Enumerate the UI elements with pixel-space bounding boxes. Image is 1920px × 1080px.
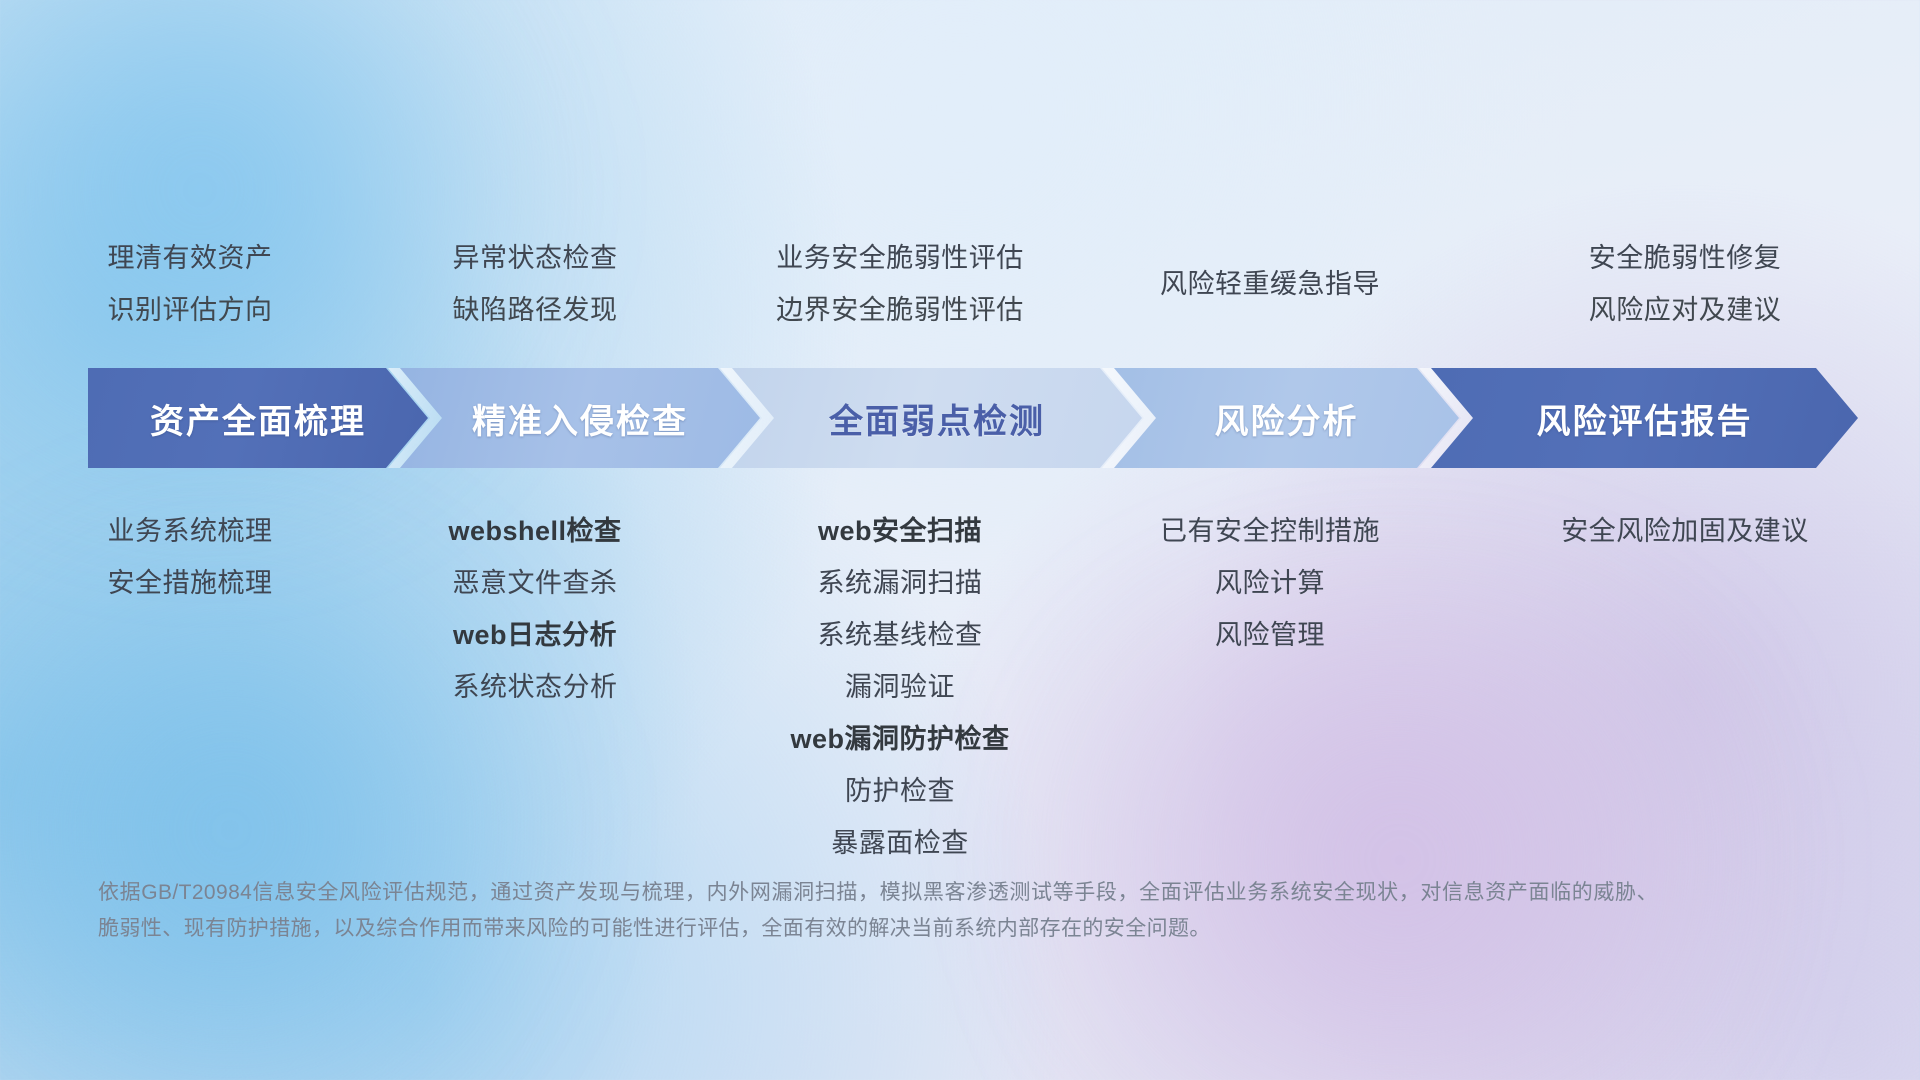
annotation-item: web安全扫描 xyxy=(818,505,982,557)
top-annotations-stage-4: 风险轻重缓急指导 xyxy=(1090,232,1450,342)
annotation-item: 风险应对及建议 xyxy=(1589,284,1782,336)
bottom-annotations-stage-1: 业务系统梳理 安全措施梳理 xyxy=(20,505,360,609)
annotation-item: 安全脆弱性修复 xyxy=(1589,232,1782,284)
annotation-item: 风险计算 xyxy=(1215,557,1325,609)
bottom-annotations-stage-4: 已有安全控制措施 风险计算 风险管理 xyxy=(1090,505,1450,661)
footer-paragraph: 依据GB/T20984信息安全风险评估规范，通过资产发现与梳理，内外网漏洞扫描，… xyxy=(98,875,1658,947)
stage-arrow-risk-report[interactable]: 风险评估报告 xyxy=(1431,368,1858,468)
stage-arrow-band: 资产全面梳理 精准入侵检查 全面弱点检测 风险分析 风险评估报告 xyxy=(88,368,1858,468)
bottom-annotations-stage-3: web安全扫描 系统漏洞扫描 系统基线检查 漏洞验证 web漏洞防护检查 防护检… xyxy=(710,505,1090,869)
stage-arrow-intrusion-check[interactable]: 精准入侵检查 xyxy=(400,368,760,468)
annotation-item: 风险管理 xyxy=(1215,609,1325,661)
annotation-item: 漏洞验证 xyxy=(845,661,955,713)
footer-description: 依据GB/T20984信息安全风险评估规范，通过资产发现与梳理，内外网漏洞扫描，… xyxy=(98,875,1658,947)
stage-arrow-asset-inventory[interactable]: 资产全面梳理 xyxy=(88,368,428,468)
annotation-item: 安全风险加固及建议 xyxy=(1561,505,1809,557)
annotation-item: 业务安全脆弱性评估 xyxy=(776,232,1024,284)
annotation-item: 系统漏洞扫描 xyxy=(818,557,983,609)
top-annotations-stage-1: 理清有效资产 识别评估方向 xyxy=(20,232,360,342)
top-annotations-stage-3: 业务安全脆弱性评估 边界安全脆弱性评估 xyxy=(710,232,1090,342)
annotation-item: 边界安全脆弱性评估 xyxy=(776,284,1024,336)
process-diagram: 理清有效资产 识别评估方向 异常状态检查 缺陷路径发现 业务安全脆弱性评估 边界… xyxy=(0,0,1920,1080)
annotation-item: 恶意文件查杀 xyxy=(453,557,618,609)
stage-arrow-label: 资产全面梳理 xyxy=(150,394,366,443)
bottom-annotations-stage-2: webshell检查 恶意文件查杀 web日志分析 系统状态分析 xyxy=(360,505,710,713)
annotation-item: 暴露面检查 xyxy=(831,817,969,869)
stage-arrow-risk-analysis[interactable]: 风险分析 xyxy=(1114,368,1459,468)
stage-arrow-label: 风险分析 xyxy=(1215,394,1359,443)
stage-arrow-label: 精准入侵检查 xyxy=(472,394,688,443)
stage-arrow-label: 全面弱点检测 xyxy=(829,394,1045,443)
annotation-item: 系统状态分析 xyxy=(453,661,618,713)
annotation-item: webshell检查 xyxy=(448,505,621,557)
annotation-item: 风险轻重缓急指导 xyxy=(1160,258,1380,310)
bottom-annotation-row: 业务系统梳理 安全措施梳理 webshell检查 恶意文件查杀 web日志分析 … xyxy=(0,505,1920,869)
stage-arrow-label: 风险评估报告 xyxy=(1537,394,1753,443)
annotation-item: 异常状态检查 xyxy=(453,232,618,284)
annotation-item: 理清有效资产 xyxy=(108,232,273,284)
annotation-item: 已有安全控制措施 xyxy=(1160,505,1380,557)
top-annotations-stage-5: 安全脆弱性修复 风险应对及建议 xyxy=(1450,232,1920,342)
stage-arrow-weakness-detection[interactable]: 全面弱点检测 xyxy=(732,368,1142,468)
annotation-item: 系统基线检查 xyxy=(818,609,983,661)
annotation-item: 识别评估方向 xyxy=(108,284,273,336)
top-annotation-row: 理清有效资产 识别评估方向 异常状态检查 缺陷路径发现 业务安全脆弱性评估 边界… xyxy=(0,232,1920,342)
bottom-annotations-stage-5: 安全风险加固及建议 xyxy=(1450,505,1920,557)
annotation-item: 业务系统梳理 xyxy=(108,505,273,557)
annotation-item: web日志分析 xyxy=(453,609,617,661)
annotation-item: web漏洞防护检查 xyxy=(790,713,1009,765)
annotation-item: 缺陷路径发现 xyxy=(453,284,618,336)
annotation-item: 安全措施梳理 xyxy=(108,557,273,609)
top-annotations-stage-2: 异常状态检查 缺陷路径发现 xyxy=(360,232,710,342)
annotation-item: 防护检查 xyxy=(845,765,955,817)
